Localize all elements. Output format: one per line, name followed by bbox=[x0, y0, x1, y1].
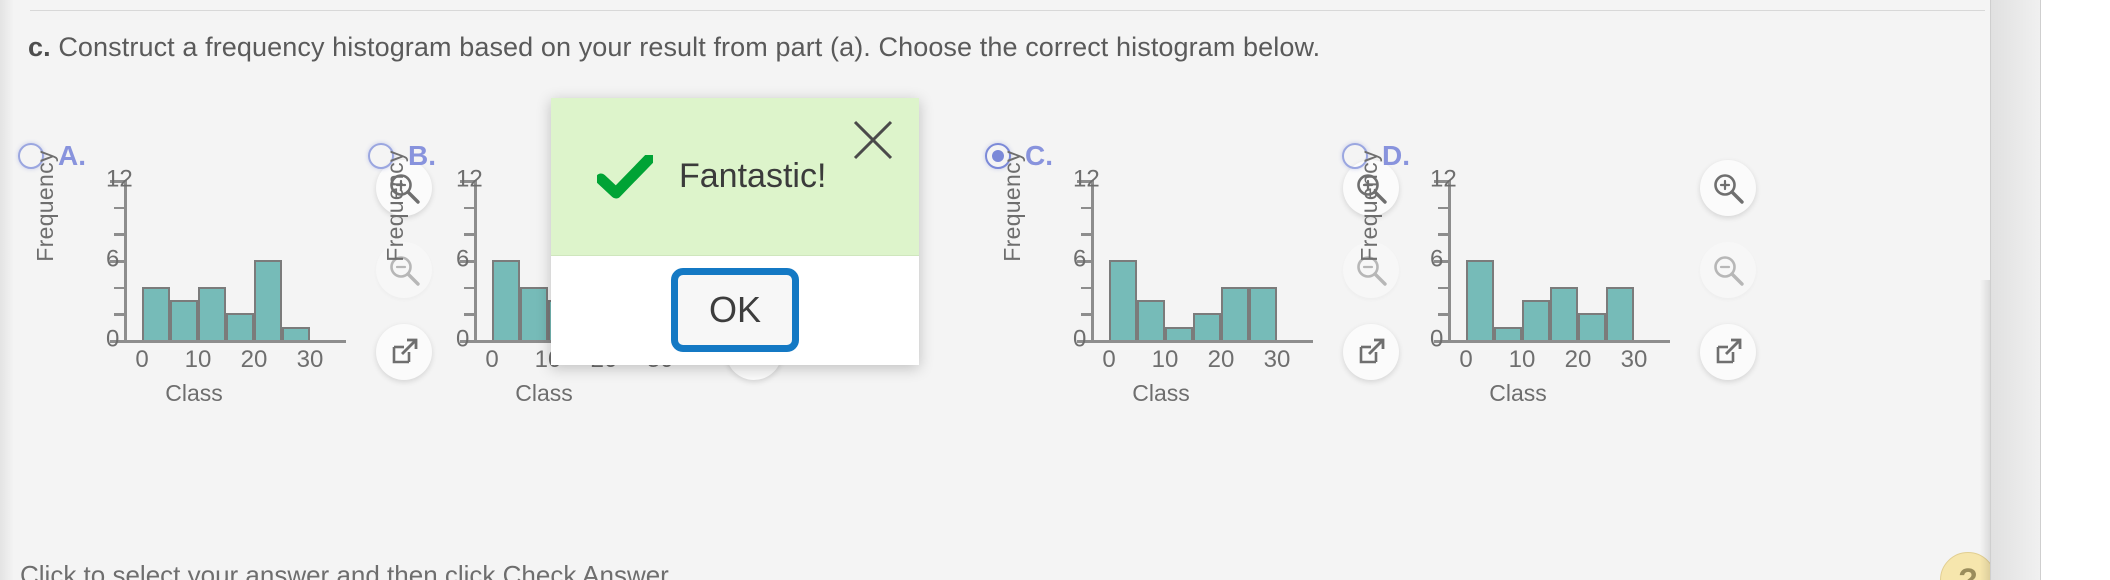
y-tick bbox=[464, 233, 475, 236]
y-axis-label: Frequency bbox=[999, 136, 1026, 276]
x-tick-group: 0102030 bbox=[142, 346, 342, 376]
option-letter: D. bbox=[1382, 140, 1410, 172]
bar bbox=[1193, 313, 1221, 340]
footer-instruction: Click to select your answer and then cli… bbox=[20, 560, 675, 580]
x-tick-label: 10 bbox=[1152, 346, 1179, 374]
question-text: Construct a frequency histogram based on… bbox=[58, 32, 1320, 62]
x-axis-label: Class bbox=[84, 380, 304, 407]
ok-button[interactable]: OK bbox=[671, 268, 799, 352]
x-tick-group: 0102030 bbox=[1466, 346, 1666, 376]
y-tick bbox=[1438, 233, 1449, 236]
question-label: c. bbox=[28, 32, 51, 62]
x-axis-label: Class bbox=[1408, 380, 1628, 407]
y-tick bbox=[1081, 233, 1092, 236]
y-axis-label: Frequency bbox=[32, 136, 59, 276]
x-tick-label: 30 bbox=[297, 346, 324, 374]
bar bbox=[1137, 300, 1165, 340]
y-tick bbox=[114, 287, 125, 290]
bar bbox=[170, 300, 198, 340]
bar bbox=[1578, 313, 1606, 340]
bar bbox=[1494, 327, 1522, 340]
page-left-edge bbox=[0, 0, 14, 580]
bar bbox=[1165, 327, 1193, 340]
close-icon[interactable] bbox=[849, 116, 897, 164]
bar bbox=[1606, 287, 1634, 340]
x-axis-label: Class bbox=[1051, 380, 1271, 407]
bar bbox=[282, 327, 310, 340]
y-tick bbox=[1438, 207, 1449, 210]
y-tick bbox=[464, 313, 475, 316]
y-tick bbox=[1438, 287, 1449, 290]
zoom-in-icon bbox=[1711, 171, 1745, 205]
dialog-body: OK bbox=[551, 256, 919, 364]
x-tick-label: 20 bbox=[1565, 346, 1592, 374]
question-prompt: c. Construct a frequency histogram based… bbox=[28, 32, 1320, 63]
bar bbox=[1550, 287, 1578, 340]
y-tick bbox=[1081, 287, 1092, 290]
feedback-dialog: Fantastic! OK bbox=[551, 98, 919, 365]
x-tick-label: 0 bbox=[1459, 346, 1472, 374]
x-axis bbox=[1091, 340, 1313, 343]
bar bbox=[142, 287, 170, 340]
histogram-chart[interactable]: Frequency06120102030Class bbox=[28, 180, 358, 450]
popout-icon bbox=[1712, 336, 1744, 368]
y-tick bbox=[464, 207, 475, 210]
option-letter: C. bbox=[1025, 140, 1053, 172]
x-tick-label: 0 bbox=[135, 346, 148, 374]
y-tick bbox=[114, 233, 125, 236]
y-tick bbox=[114, 207, 125, 210]
bar bbox=[1249, 287, 1277, 340]
zoom-in-button[interactable] bbox=[1700, 160, 1756, 216]
panel-shadow bbox=[1980, 280, 1990, 580]
bar bbox=[198, 287, 226, 340]
x-tick-label: 30 bbox=[1621, 346, 1648, 374]
x-tick-label: 10 bbox=[185, 346, 212, 374]
bar-group bbox=[142, 180, 310, 340]
chart-tools bbox=[1700, 160, 1760, 406]
plot-area: 06120102030 bbox=[1051, 180, 1313, 380]
y-tick bbox=[1081, 313, 1092, 316]
bar bbox=[1466, 260, 1494, 340]
bar bbox=[254, 260, 282, 340]
section-divider bbox=[30, 10, 1985, 11]
x-tick-label: 30 bbox=[1264, 346, 1291, 374]
x-axis bbox=[1448, 340, 1670, 343]
y-axis-label: Frequency bbox=[1356, 136, 1383, 276]
bar-group bbox=[1109, 180, 1277, 340]
page-root: c. Construct a frequency histogram based… bbox=[0, 0, 2110, 580]
bar bbox=[520, 287, 548, 340]
bar-group bbox=[1466, 180, 1634, 340]
gutter-divider-2 bbox=[1990, 0, 1991, 580]
bar bbox=[492, 260, 520, 340]
x-tick-label: 20 bbox=[1208, 346, 1235, 374]
bar bbox=[226, 313, 254, 340]
bar bbox=[1221, 287, 1249, 340]
zoom-out-button[interactable] bbox=[1700, 242, 1756, 298]
bar bbox=[1109, 260, 1137, 340]
gutter-divider-1 bbox=[2040, 0, 2041, 580]
x-axis bbox=[124, 340, 346, 343]
feedback-message: Fantastic! bbox=[679, 157, 826, 196]
popout-button[interactable] bbox=[1700, 324, 1756, 380]
bar bbox=[1522, 300, 1550, 340]
y-tick bbox=[464, 287, 475, 290]
y-axis-label: Frequency bbox=[382, 136, 409, 276]
x-tick-label: 20 bbox=[241, 346, 268, 374]
x-tick-label: 10 bbox=[1509, 346, 1536, 374]
check-icon bbox=[597, 155, 653, 199]
x-tick-label: 0 bbox=[485, 346, 498, 374]
y-tick bbox=[114, 313, 125, 316]
dialog-header: Fantastic! bbox=[551, 98, 919, 256]
x-axis-label: Class bbox=[434, 380, 654, 407]
option-d[interactable]: D.Frequency06120102030Class bbox=[1342, 140, 1822, 540]
x-tick-label: 0 bbox=[1102, 346, 1115, 374]
histogram-chart[interactable]: Frequency06120102030Class bbox=[1352, 180, 1682, 450]
y-tick bbox=[1438, 313, 1449, 316]
scroll-track[interactable] bbox=[1990, 0, 2040, 580]
plot-area: 06120102030 bbox=[1408, 180, 1670, 380]
x-tick-group: 0102030 bbox=[1109, 346, 1309, 376]
plot-area: 06120102030 bbox=[84, 180, 346, 380]
histogram-chart[interactable]: Frequency06120102030Class bbox=[995, 180, 1325, 450]
zoom-out-icon bbox=[1711, 253, 1745, 287]
y-tick bbox=[1081, 207, 1092, 210]
option-letter: B. bbox=[408, 140, 436, 172]
option-letter: A. bbox=[58, 140, 86, 172]
